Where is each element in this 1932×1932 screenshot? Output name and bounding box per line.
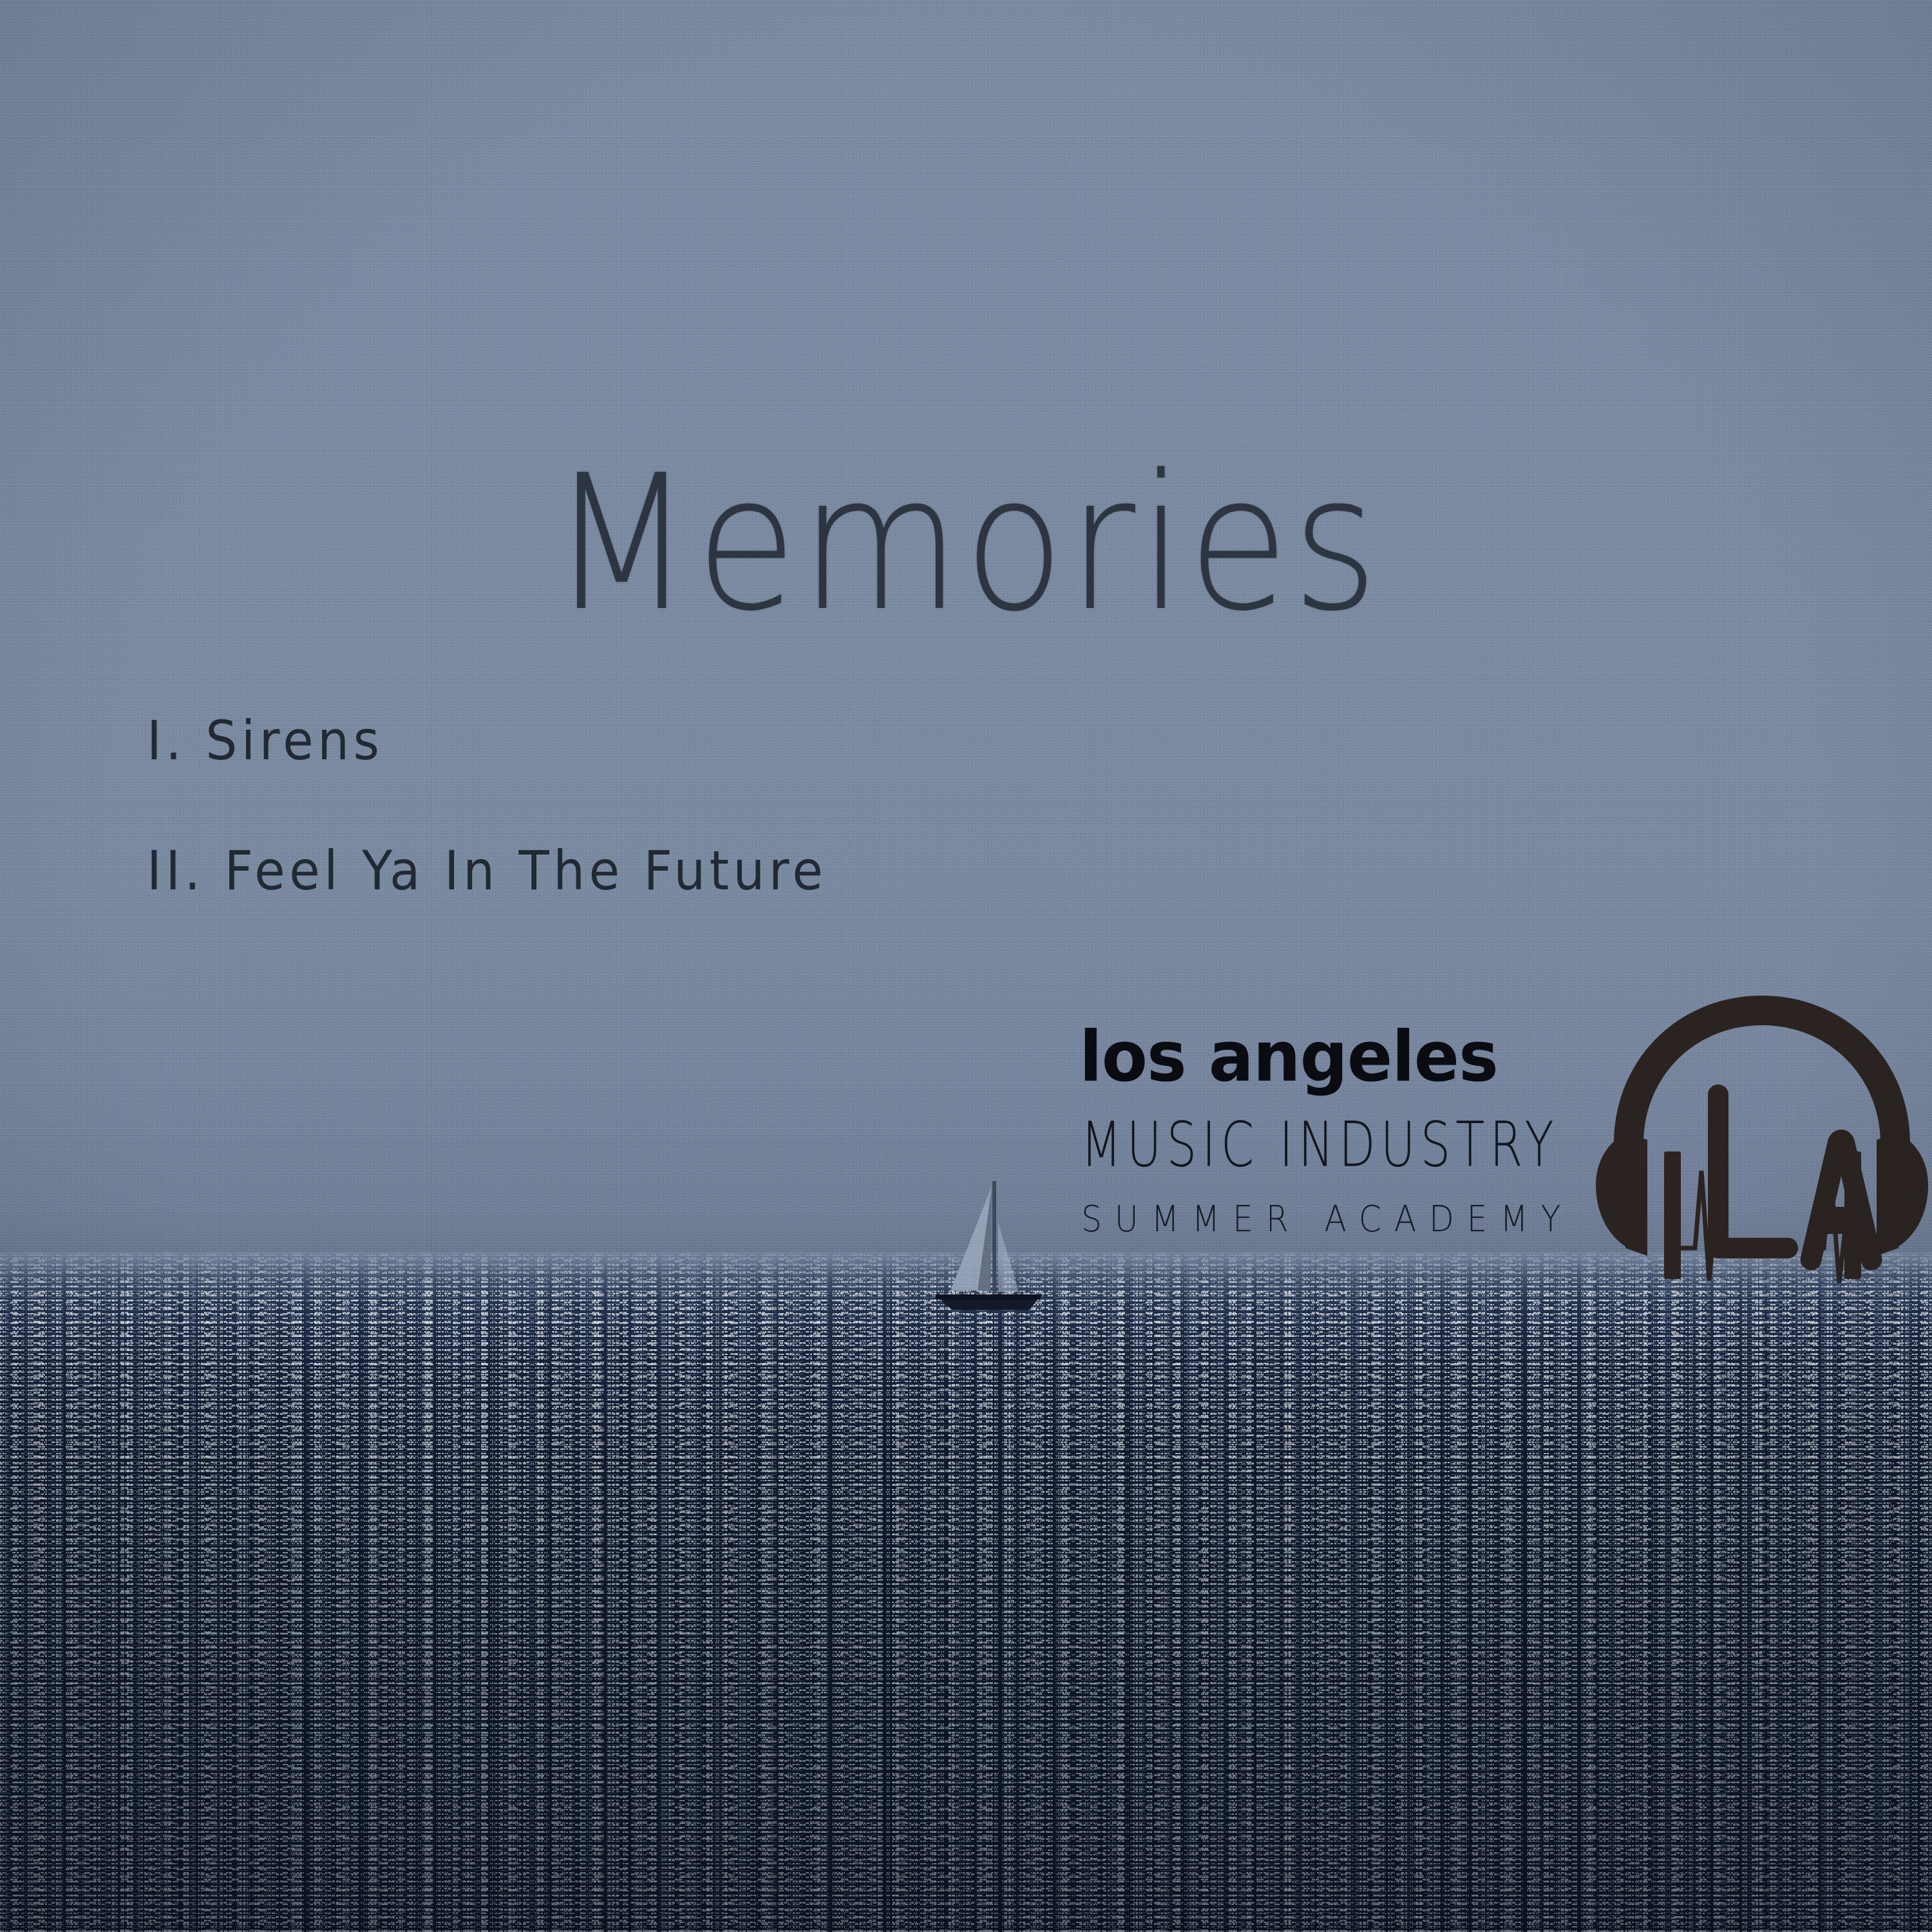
logo-line-los-angeles: los angeles (1079, 1023, 1624, 1092)
logo-wordmark: los angeles MUSIC INDUSTRY SUMMER ACADEM… (1079, 1023, 1646, 1092)
tracklist-item-2: II. Feel Ya In The Future (147, 844, 1450, 898)
tracklist: I. Sirens II. Feel Ya In The Future (147, 714, 1564, 974)
la-music-industry-summer-academy-logo: los angeles MUSIC INDUSTRY SUMMER ACADEM… (1079, 1023, 1917, 1325)
headphones-la-waveform-icon (1588, 978, 1932, 1325)
album-cover-artwork: Memories I. Sirens II. Feel Ya In The Fu… (0, 0, 1932, 1932)
ocean-depth-gradient (0, 1252, 1932, 1932)
logo-line-music-industry: MUSIC INDUSTRY (1081, 1114, 1558, 1176)
album-title: Memories (116, 451, 1816, 638)
ocean-background (0, 1252, 1932, 1932)
tracklist-item-1: I. Sirens (147, 714, 1450, 768)
logo-line-summer-academy: SUMMER ACADEMY (1081, 1202, 1573, 1238)
sailboat-icon (922, 1177, 1064, 1325)
